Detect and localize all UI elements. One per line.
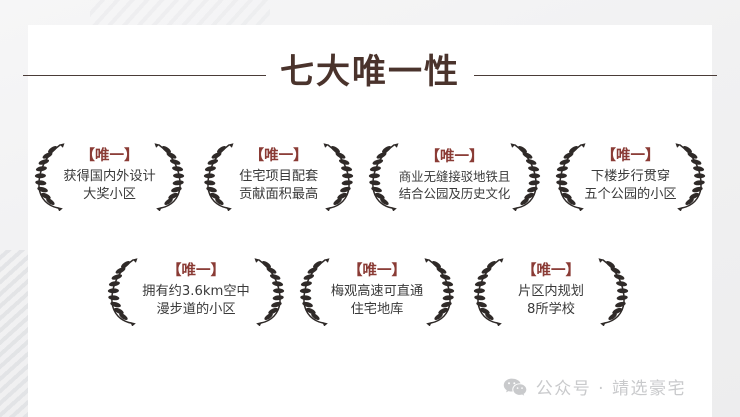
badge-head: 【唯一】 (518, 262, 584, 281)
badge-head: 【唯一】 (63, 147, 155, 166)
badge-line: 商业无缝接驳地铁且 (399, 169, 511, 185)
badge-item[interactable]: 【唯一】 获得国内外设计 大奖小区 (28, 129, 191, 221)
badge-head: 【唯一】 (331, 262, 423, 281)
badge-text: 【唯一】 片区内规划 8所学校 (496, 262, 606, 318)
badge-item[interactable]: 【唯一】 梅观高速可直通 住宅地库 (293, 244, 461, 336)
badge-item[interactable]: 【唯一】 住宅项目配套 贡献面积最高 (197, 129, 360, 221)
badge-line: 结合公园及历史文化 (399, 186, 511, 202)
badge-head: 【唯一】 (399, 148, 511, 167)
badge-line: 住宅地库 (331, 301, 423, 318)
badge-head: 【唯一】 (239, 147, 318, 166)
wechat-icon (503, 377, 527, 397)
title-row: 七大唯一性 (28, 47, 712, 103)
badge-item[interactable]: 【唯一】 下楼步行贯穿 五个公园的小区 (549, 129, 712, 221)
badge-line: 五个公园的小区 (584, 186, 676, 203)
badge-item[interactable]: 【唯一】 商业无缝接驳地铁且 结合公园及历史文化 (366, 129, 543, 221)
badge-line: 下楼步行贯穿 (584, 168, 676, 185)
badge-line: 梅观高速可直通 (331, 283, 423, 300)
badge-grid: 【唯一】 获得国内外设计 大奖小区 (28, 129, 712, 336)
badge-line: 住宅项目配套 (239, 168, 318, 185)
slide-canvas: 七大唯一性 (0, 0, 740, 417)
badge-line: 大奖小区 (63, 186, 155, 203)
badge-line: 拥有约3.6km空中 (142, 283, 249, 300)
watermark: 公众号 · 靖选豪宅 (503, 374, 686, 399)
badge-row-2: 【唯一】 拥有约3.6km空中 漫步道的小区 (28, 244, 712, 336)
badge-head: 【唯一】 (142, 262, 249, 281)
title-rule-left (23, 75, 266, 76)
badge-text: 【唯一】 下楼步行贯穿 五个公园的小区 (562, 147, 698, 203)
badge-text: 【唯一】 获得国内外设计 大奖小区 (41, 147, 177, 203)
badge-item[interactable]: 【唯一】 片区内规划 8所学校 (467, 244, 635, 336)
badge-item[interactable]: 【唯一】 拥有约3.6km空中 漫步道的小区 (105, 244, 287, 336)
badge-line: 片区内规划 (518, 283, 584, 300)
watermark-text: 公众号 · 靖选豪宅 (536, 374, 686, 399)
badge-line: 8所学校 (518, 301, 584, 318)
badge-row-1: 【唯一】 获得国内外设计 大奖小区 (28, 129, 712, 221)
badge-line: 获得国内外设计 (63, 168, 155, 185)
badge-text: 【唯一】 住宅项目配套 贡献面积最高 (217, 147, 340, 203)
page-title: 七大唯一性 (266, 55, 474, 89)
badge-line: 贡献面积最高 (239, 186, 318, 203)
badge-text: 【唯一】 拥有约3.6km空中 漫步道的小区 (120, 262, 271, 318)
badge-text: 【唯一】 商业无缝接驳地铁且 结合公园及历史文化 (377, 148, 533, 202)
title-rule-right (474, 75, 717, 76)
badge-line: 漫步道的小区 (142, 301, 249, 318)
badge-text: 【唯一】 梅观高速可直通 住宅地库 (309, 262, 445, 318)
content-card: 七大唯一性 (28, 25, 712, 417)
badge-head: 【唯一】 (584, 147, 676, 166)
